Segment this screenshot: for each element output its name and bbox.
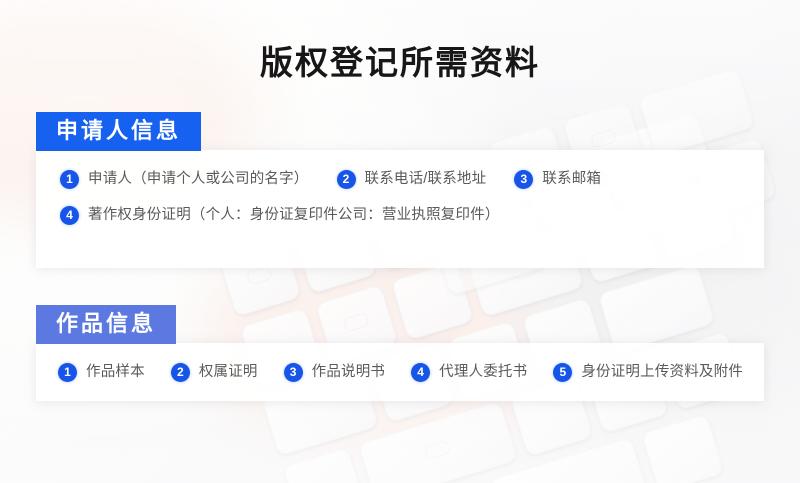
list-item-label: 权属证明 [199,362,258,382]
list-item[interactable]: 1 作品样本 [58,362,145,382]
item-number-badge: 3 [284,363,303,382]
item-number-badge: 2 [337,170,356,189]
page-title: 版权登记所需资料 [0,43,800,83]
section-header-work: 作品信息 [36,305,176,344]
list-item-label: 身份证明上传资料及附件 [581,362,743,382]
item-number-badge: 4 [411,363,430,382]
list-item[interactable]: 3 联系邮箱 [514,169,601,189]
list-item[interactable]: 2 联系电话/联系地址 [337,169,487,189]
panel-work: 1 作品样本 2 权属证明 3 作品说明书 4 [36,343,764,401]
section-work-info: 作品信息 1 作品样本 2 权属证明 3 作品说明书 [36,305,764,401]
list-item[interactable]: 5 身份证明上传资料及附件 [553,362,743,382]
panel-applicant: 1 申请人（申请个人或公司的名字） 2 联系电话/联系地址 3 联系邮箱 [36,150,764,268]
section-applicant-info: 申请人信息 1 申请人（申请个人或公司的名字） 2 联系电话/联系地址 3 [36,112,764,268]
requirement-row: 1 申请人（申请个人或公司的名字） 2 联系电话/联系地址 3 联系邮箱 [36,150,764,189]
list-item-label: 联系电话/联系地址 [365,169,487,189]
list-item-label: 著作权身份证明（个人：身份证复印件公司：营业执照复印件） [88,205,500,225]
list-item[interactable]: 4 著作权身份证明（个人：身份证复印件公司：营业执照复印件） [60,205,500,225]
list-item[interactable]: 1 申请人（申请个人或公司的名字） [60,169,309,189]
requirement-row: 1 作品样本 2 权属证明 3 作品说明书 4 [36,343,764,401]
list-item-label: 代理人委托书 [439,362,527,382]
list-item[interactable]: 4 代理人委托书 [411,362,527,382]
item-number-badge: 5 [553,363,572,382]
list-item-label: 作品样本 [86,362,145,382]
section-header-applicant: 申请人信息 [36,112,201,151]
item-number-badge: 1 [60,170,79,189]
item-number-badge: 2 [171,363,190,382]
poster-content: 版权登记所需资料 申请人信息 1 申请人（申请个人或公司的名字） 2 联系电话/… [0,0,800,483]
list-item[interactable]: 2 权属证明 [171,362,258,382]
requirement-row: 4 著作权身份证明（个人：身份证复印件公司：营业执照复印件） [36,189,764,225]
item-number-badge: 1 [58,363,77,382]
list-item-label: 申请人（申请个人或公司的名字） [88,169,309,189]
poster-canvas: 版权登记所需资料 申请人信息 1 申请人（申请个人或公司的名字） 2 联系电话/… [0,0,800,483]
item-number-badge: 4 [60,206,79,225]
list-item-label: 作品说明书 [312,362,386,382]
item-number-badge: 3 [514,170,533,189]
list-item-label: 联系邮箱 [542,169,601,189]
list-item[interactable]: 3 作品说明书 [284,362,386,382]
